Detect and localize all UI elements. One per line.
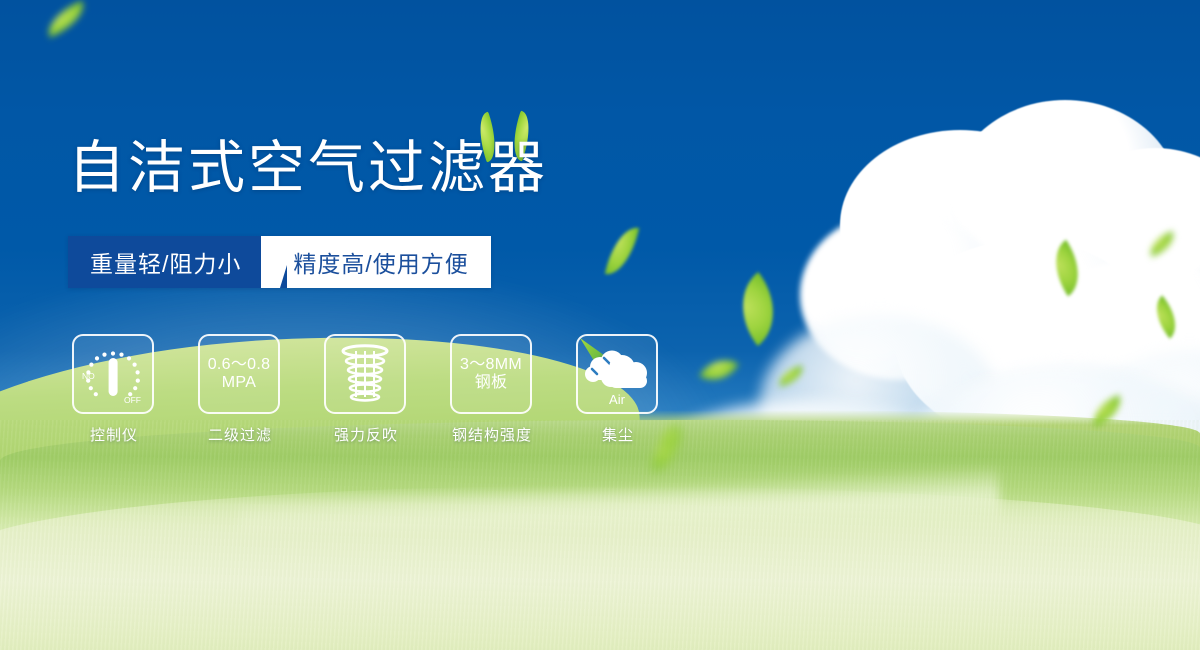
feature-caption: 集尘	[576, 424, 660, 445]
feature-item-reverse-blow[interactable]: 强力反吹	[324, 334, 408, 445]
feature-item-secondary-filter[interactable]: 0.6～0.8 MPA 二级过滤	[198, 334, 282, 445]
feature-item-dust-collection[interactable]: Air 集尘	[576, 334, 660, 445]
feature-icon-box: 0.6～0.8 MPA	[198, 334, 280, 414]
steel-line-1: 3～8MM	[460, 356, 522, 374]
feature-icon-box: Air	[576, 334, 658, 414]
feature-item-controller[interactable]: NO OFF 控制仪	[72, 334, 156, 445]
gauge-label-off: OFF	[124, 395, 141, 405]
pressure-line-1: 0.6～0.8	[208, 356, 271, 374]
feature-caption: 控制仪	[72, 424, 156, 445]
subtitle-bar: 重量轻/阻力小 精度高/使用方便	[68, 236, 491, 288]
pressure-value-icon: 0.6～0.8 MPA	[208, 356, 271, 392]
gauge-dial-icon: NO OFF	[76, 339, 150, 409]
subtitle-divider	[261, 236, 287, 288]
pressure-line-2: MPA	[208, 374, 271, 392]
steel-line-2: 钢板	[460, 374, 522, 392]
cloud-air-icon: Air	[578, 336, 656, 412]
air-label: Air	[609, 392, 626, 407]
airflow-rings-icon	[333, 343, 397, 405]
gauge-label-no: NO	[82, 371, 95, 381]
hero-banner: 自洁式空气过滤器 重量轻/阻力小 精度高/使用方便	[0, 0, 1200, 650]
feature-caption: 二级过滤	[198, 424, 282, 445]
subtitle-right: 精度高/使用方便	[287, 236, 490, 288]
page-title: 自洁式空气过滤器	[68, 140, 548, 197]
feature-icon-box: 3～8MM 钢板	[450, 334, 532, 414]
subtitle-left: 重量轻/阻力小	[68, 236, 261, 288]
feature-caption: 钢结构强度	[450, 424, 534, 445]
feature-icon-box: NO OFF	[72, 334, 154, 414]
steel-plate-icon: 3～8MM 钢板	[460, 356, 522, 392]
feature-item-steel-strength[interactable]: 3～8MM 钢板 钢结构强度	[450, 334, 534, 445]
feature-caption: 强力反吹	[324, 424, 408, 445]
feature-list: NO OFF 控制仪 0.6～0.8 MPA 二级过滤	[72, 334, 660, 445]
feature-icon-box	[324, 334, 406, 414]
